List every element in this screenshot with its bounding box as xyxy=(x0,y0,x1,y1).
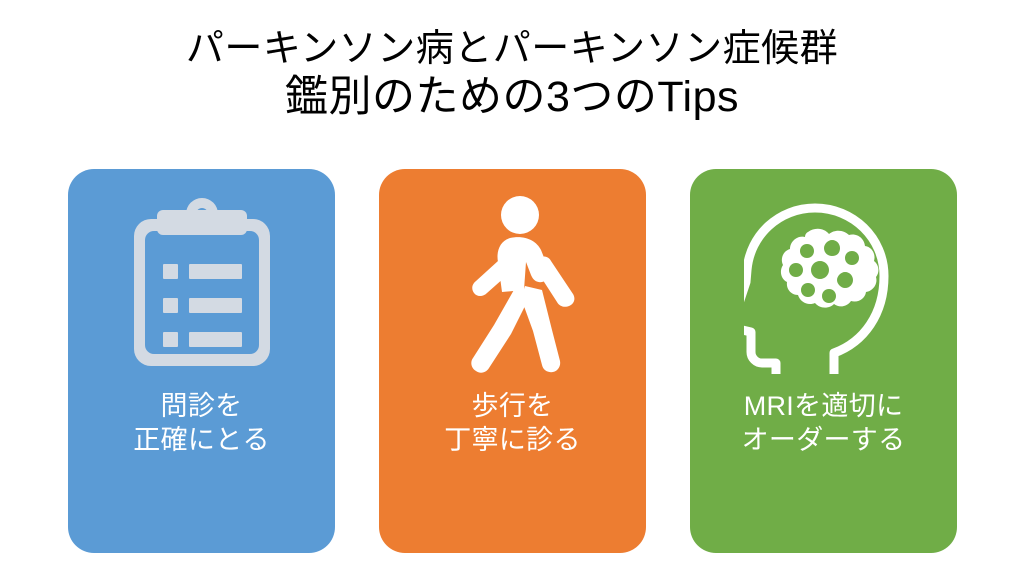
page-title: パーキンソン病とパーキンソン症候群 鑑別のための3つのTips xyxy=(0,26,1024,122)
tip-card-interview[interactable]: 問診を 正確にとる xyxy=(68,169,335,553)
tip-card-label: 歩行を 丁寧に診る xyxy=(379,389,646,457)
tips-card-row: 問診を 正確にとる xyxy=(68,169,957,553)
clipboard-checklist-icon xyxy=(68,193,335,379)
tip-card-label: MRIを適切に オーダーする xyxy=(690,389,957,457)
title-line-2: 鑑別のための3つのTips xyxy=(0,72,1024,122)
tip-card-label: 問診を 正確にとる xyxy=(68,389,335,457)
title-line-1: パーキンソン病とパーキンソン症候群 xyxy=(0,26,1024,72)
walking-person-icon xyxy=(379,193,646,379)
head-brain-icon xyxy=(690,193,957,379)
tip-card-mri[interactable]: MRIを適切に オーダーする xyxy=(690,169,957,553)
tip-card-gait[interactable]: 歩行を 丁寧に診る xyxy=(379,169,646,553)
slide-canvas: パーキンソン病とパーキンソン症候群 鑑別のための3つのTips xyxy=(0,0,1024,576)
